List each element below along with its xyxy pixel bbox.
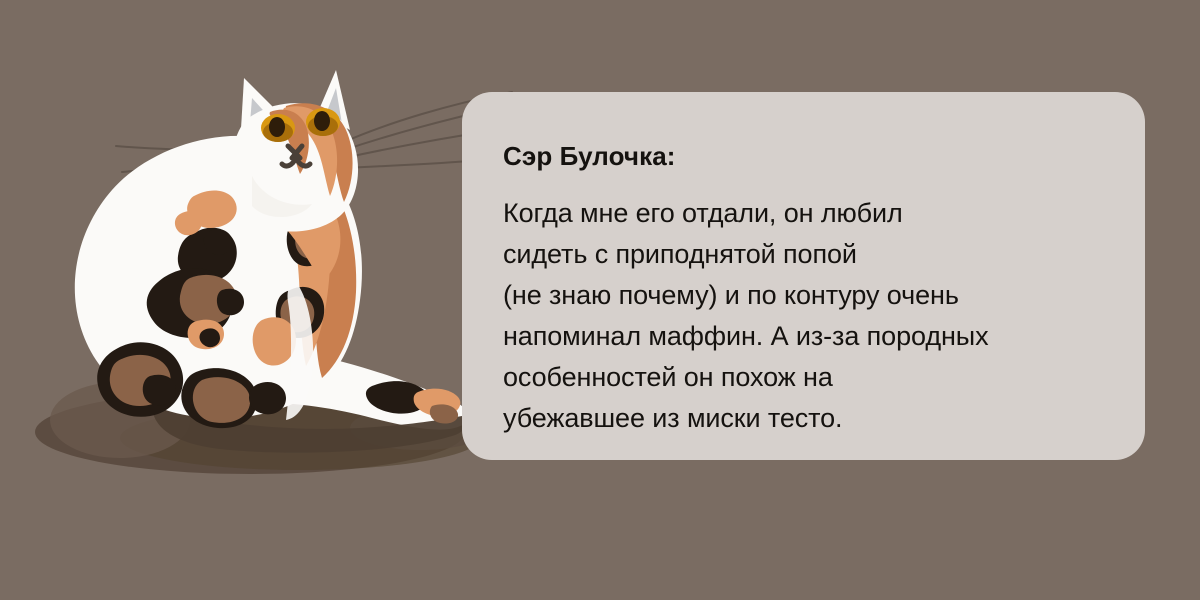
image-canvas: Сэр Булочка: Когда мне его отдали, он лю… bbox=[0, 0, 1200, 600]
speaker-name: Сэр Булочка: bbox=[503, 142, 1105, 171]
eye-right bbox=[306, 108, 340, 136]
speech-text: Когда мне его отдали, он любил сидеть с … bbox=[503, 193, 1105, 439]
speech-bubble: Сэр Булочка: Когда мне его отдали, он лю… bbox=[462, 92, 1145, 460]
eye-left bbox=[261, 114, 295, 142]
